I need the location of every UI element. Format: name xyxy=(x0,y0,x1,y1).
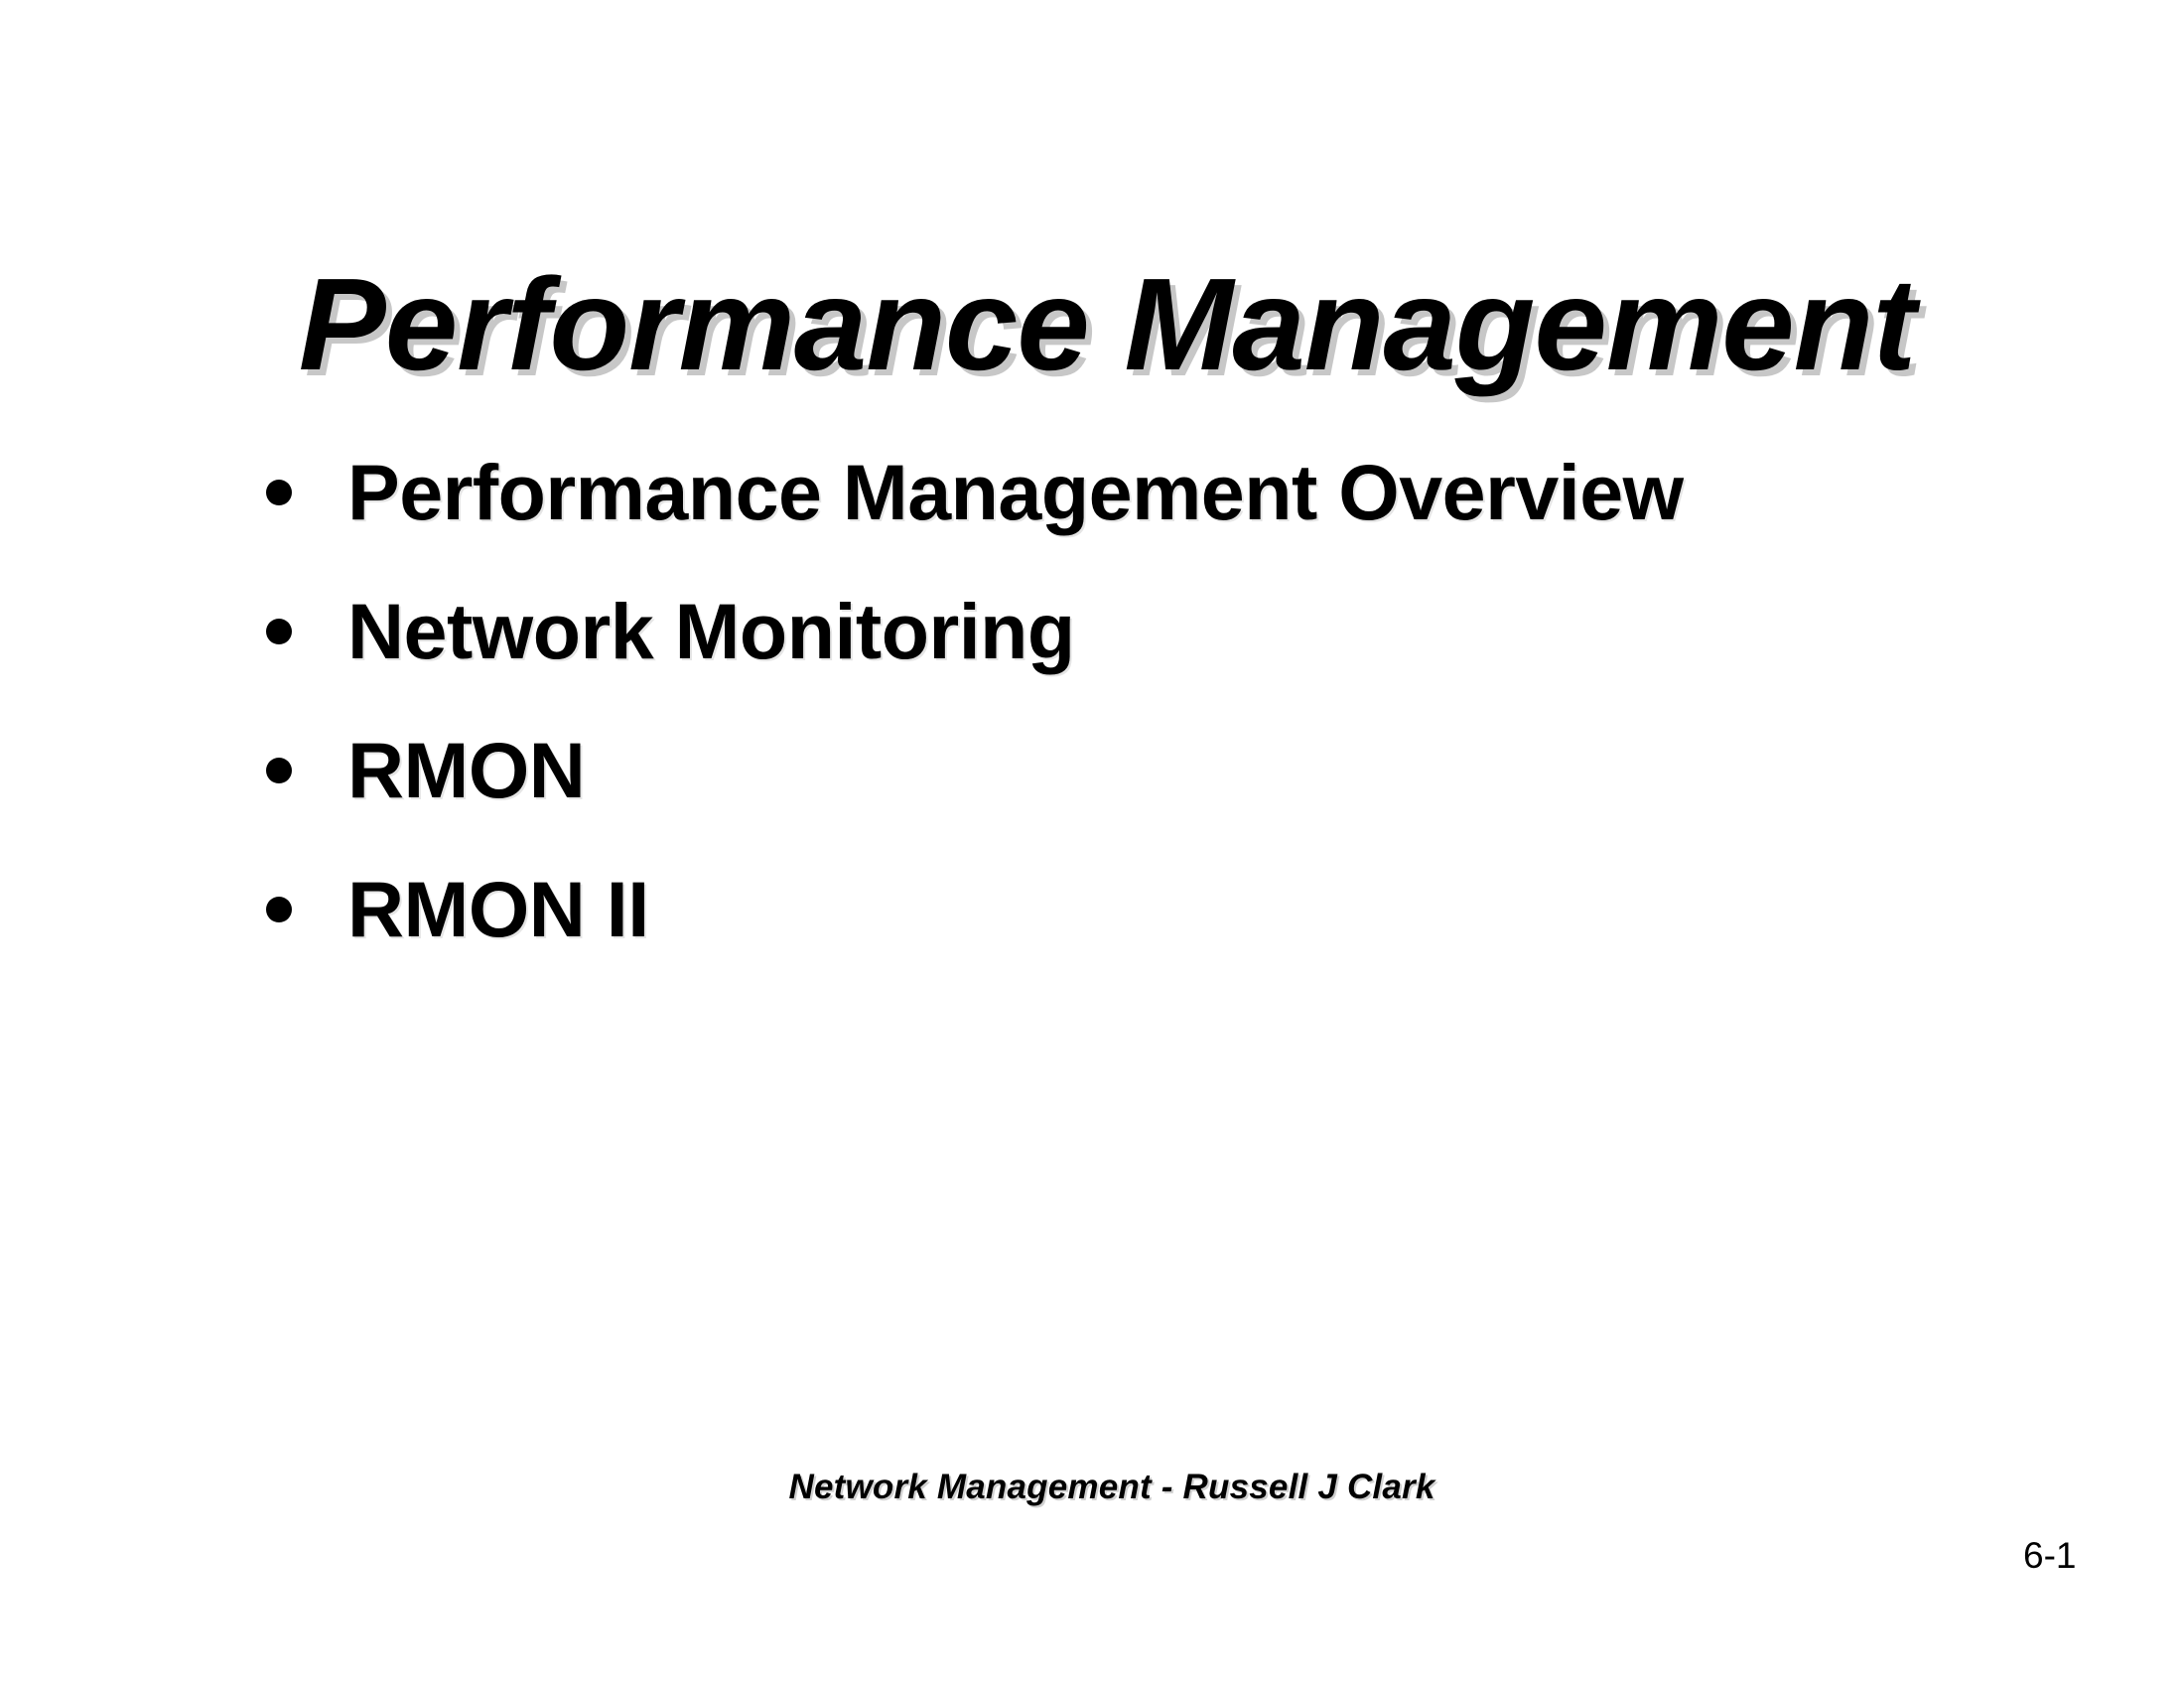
footer-credit: Network Management - Russell J Clark xyxy=(0,1468,2184,1507)
slide-canvas: Performance Management Performance Manag… xyxy=(0,0,2184,1688)
list-item: Network Monitoring xyxy=(260,591,2047,730)
page-number: 6-1 xyxy=(2023,1535,2076,1577)
bullet-dot-icon xyxy=(266,897,292,922)
bullet-dot-icon xyxy=(266,619,292,644)
bullet-dot-icon xyxy=(266,480,292,505)
list-item: RMON xyxy=(260,730,2047,869)
list-item: RMON II xyxy=(260,869,2047,1008)
page-title: Performance Management xyxy=(0,256,2184,392)
list-item: Performance Management Overview xyxy=(260,452,2047,591)
list-item-label: Performance Management Overview xyxy=(347,452,1684,533)
list-item-label: Network Monitoring xyxy=(347,591,1075,672)
list-item-label: RMON II xyxy=(347,869,649,950)
list-item-label: RMON xyxy=(347,730,585,811)
bullet-dot-icon xyxy=(266,758,292,783)
bullet-list: Performance Management Overview Network … xyxy=(260,452,2047,1008)
